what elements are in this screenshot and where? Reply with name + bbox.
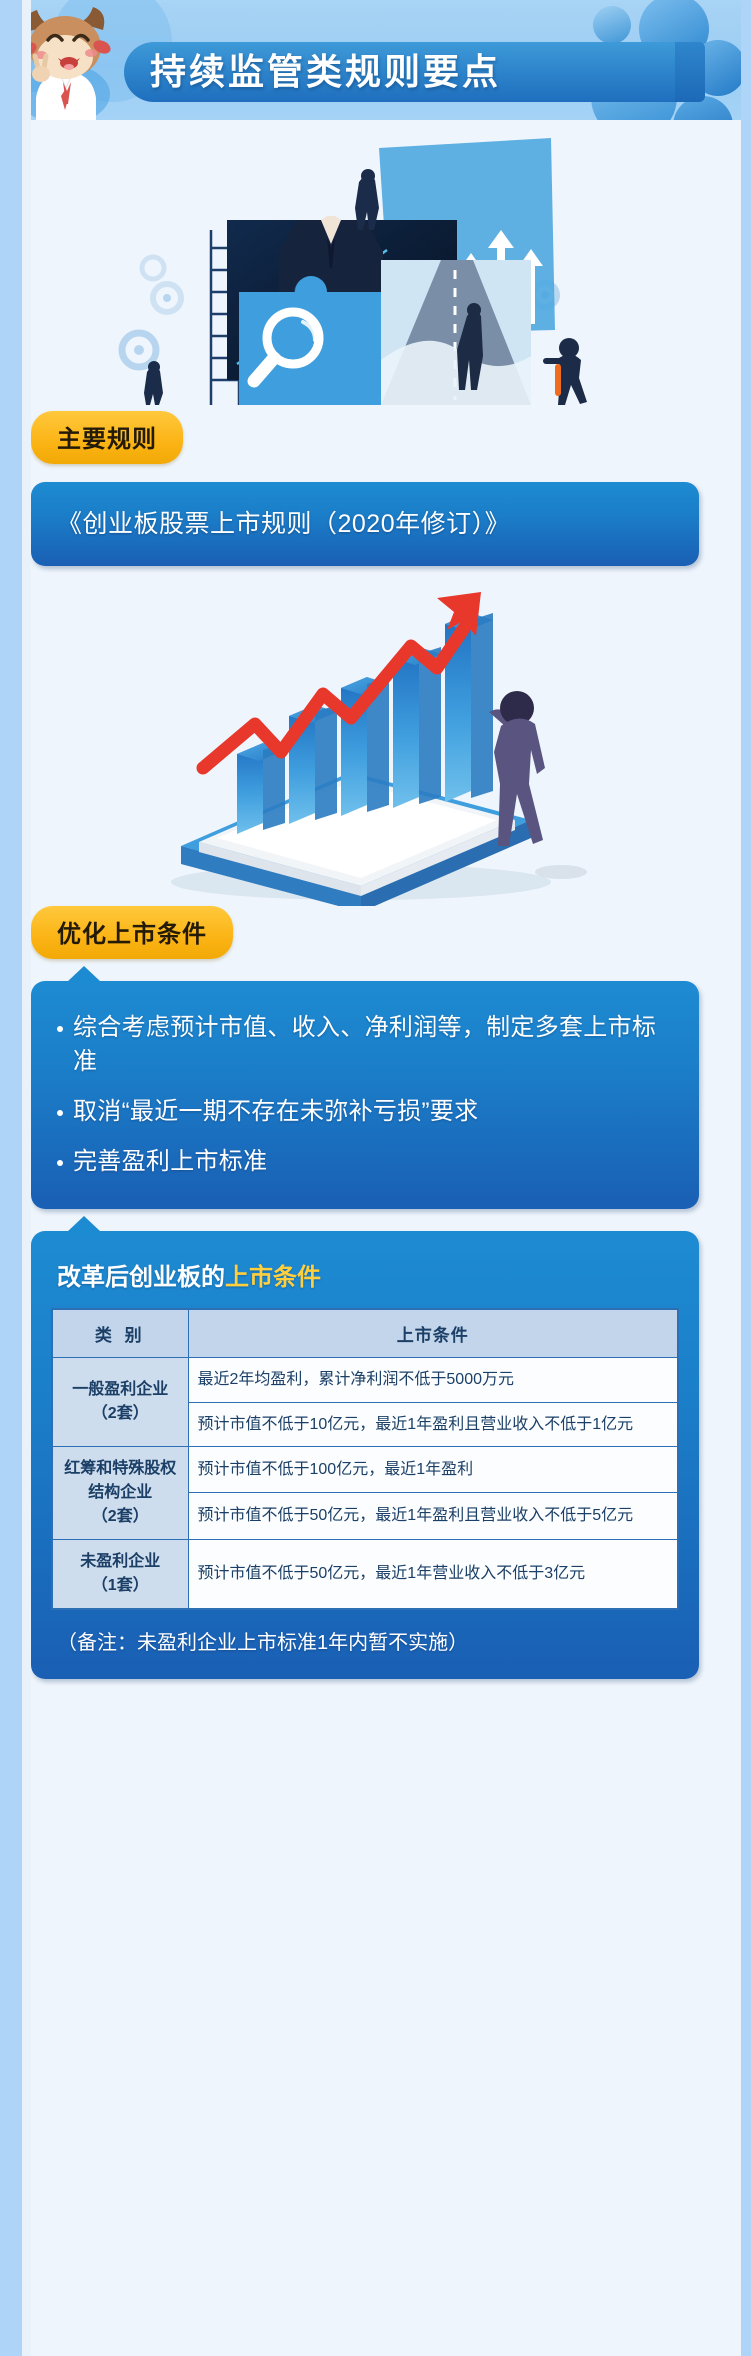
puzzle-piece-icon — [239, 276, 398, 405]
optimize-conditions-section: 优化上市条件 综合考虑预计市值、收入、净利润等，制定多套上市标准 取消“最近一期… — [31, 906, 741, 1209]
listing-conditions-table: 类 别 上市条件 一般盈利企业 （2套） 最近2年均盈利，累计净利润不低于500… — [51, 1308, 679, 1609]
condition-cell: 最近2年均盈利，累计净利润不低于5000万元 — [188, 1358, 678, 1402]
bullet-text: 取消“最近一期不存在未弥补亏损”要求 — [73, 1095, 478, 1129]
condition-cell: 预计市值不低于10亿元，最近1年盈利且营业收入不低于1亿元 — [188, 1402, 678, 1446]
list-item: 取消“最近一期不存在未弥补亏损”要求 — [57, 1095, 673, 1129]
row-category-red-chip: 红筹和特殊股权 结构企业 （2套） — [52, 1446, 188, 1539]
table-row: 一般盈利企业 （2套） 最近2年均盈利，累计净利润不低于5000万元 — [52, 1358, 678, 1402]
road-photo — [381, 260, 531, 405]
table-header-row: 类 别 上市条件 — [52, 1309, 678, 1358]
optimize-bullets-card: 综合考虑预计市值、收入、净利润等，制定多套上市标准 取消“最近一期不存在未弥补亏… — [31, 981, 699, 1209]
business-analytics-collage-illustration — [31, 120, 741, 405]
page-header: 持续监管类规则要点 — [0, 0, 751, 120]
listing-conditions-card: 改革后创业板的上市条件 类 别 上市条件 一般盈利企业 （2套） — [31, 1231, 699, 1678]
page-right-border — [741, 0, 751, 2356]
list-item: 完善盈利上市标准 — [57, 1145, 673, 1179]
table-row: 未盈利企业 （1套） 预计市值不低于50亿元，最近1年营业收入不低于3亿元 — [52, 1539, 678, 1609]
bullet-dot-icon — [57, 1160, 63, 1166]
category-line: （2套） — [62, 1505, 179, 1529]
growth-bar-chart-on-book-illustration — [31, 576, 741, 906]
main-rules-section: 主要规则 《创业板股票上市规则（2020年修订）》 — [31, 411, 741, 566]
category-line: 未盈利企业 — [62, 1550, 179, 1574]
decorative-circle-icon — [593, 6, 631, 44]
table-row: 红筹和特殊股权 结构企业 （2套） 预计市值不低于100亿元，最近1年盈利 — [52, 1446, 678, 1493]
condition-cell: 预计市值不低于50亿元，最近1年营业收入不低于3亿元 — [188, 1539, 678, 1609]
businessman-silhouette — [489, 691, 587, 879]
category-line: 结构企业 — [62, 1481, 179, 1505]
category-line: 一般盈利企业 — [62, 1378, 179, 1402]
bullet-dot-icon — [57, 1026, 63, 1032]
callout-tail — [67, 966, 101, 982]
pushing-man-silhouette — [543, 338, 587, 405]
list-item: 综合考虑预计市值、收入、净利润等，制定多套上市标准 — [57, 1011, 673, 1079]
page-left-border — [0, 0, 22, 2356]
column-header-conditions: 上市条件 — [188, 1309, 678, 1358]
main-rule-title: 《创业板股票上市规则（2020年修订）》 — [57, 482, 510, 566]
table-heading-prefix: 改革后创业板的 — [57, 1264, 225, 1291]
table-heading-highlight: 上市条件 — [225, 1264, 321, 1291]
table-footnote: （备注：未盈利企业上市标准1年内暂不实施） — [57, 1626, 679, 1655]
column-header-category: 类 别 — [52, 1309, 188, 1358]
category-line: 红筹和特殊股权 — [62, 1457, 179, 1481]
category-line: （2套） — [62, 1402, 179, 1426]
callout-tail — [67, 1216, 101, 1232]
condition-cell: 预计市值不低于100亿元，最近1年盈利 — [188, 1446, 678, 1493]
page-title: 持续监管类规则要点 — [150, 44, 710, 100]
bullet-dot-icon — [57, 1110, 63, 1116]
bullet-text: 综合考虑预计市值、收入、净利润等，制定多套上市标准 — [73, 1011, 673, 1079]
condition-cell: 预计市值不低于50亿元，最近1年盈利且营业收入不低于5亿元 — [188, 1493, 678, 1540]
page-left-inner-border — [22, 0, 31, 2356]
bullet-text: 完善盈利上市标准 — [73, 1145, 267, 1179]
gear-icon — [122, 257, 181, 367]
content-column: 主要规则 《创业板股票上市规则（2020年修订）》 — [31, 120, 741, 1679]
row-category-unprofitable: 未盈利企业 （1套） — [52, 1539, 188, 1609]
main-rules-badge: 主要规则 — [31, 411, 183, 464]
category-line: （1套） — [62, 1574, 179, 1598]
optimize-conditions-badge: 优化上市条件 — [31, 906, 233, 959]
main-rule-card: 《创业板股票上市规则（2020年修订）》 — [31, 482, 699, 566]
infographic-page: 持续监管类规则要点 — [0, 0, 751, 2356]
row-category-general-profit: 一般盈利企业 （2套） — [52, 1358, 188, 1446]
table-heading: 改革后创业板的上市条件 — [57, 1257, 679, 1292]
